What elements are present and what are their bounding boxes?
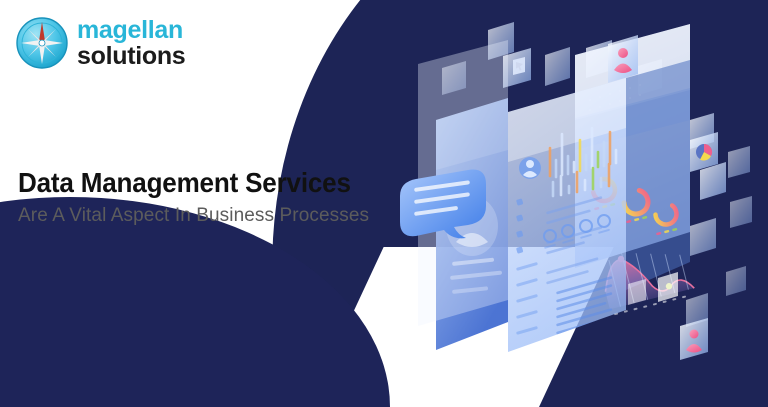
hero-headline: Data Management Services [18, 167, 351, 199]
floating-tiles-right [680, 113, 752, 360]
compass-rose-icon [16, 17, 68, 69]
brand-name-secondary: solutions [77, 44, 185, 69]
avatar-tile-lower [680, 318, 708, 360]
brand-logo[interactable]: magellan solutions [16, 16, 185, 69]
user-avatar-icon [519, 157, 541, 179]
illustration-canvas [390, 0, 768, 407]
hero-subheadline: Are A Vital Aspect In Business Processes [18, 205, 369, 227]
data-dashboard-illustration [390, 0, 768, 407]
hero-banner: magellan solutions Data Management Servi… [0, 0, 768, 407]
brand-name-primary: magellan [77, 18, 185, 43]
cursor-pointer-icon [513, 57, 525, 75]
analytics-card [508, 78, 626, 352]
brand-wordmark: magellan solutions [77, 16, 185, 69]
